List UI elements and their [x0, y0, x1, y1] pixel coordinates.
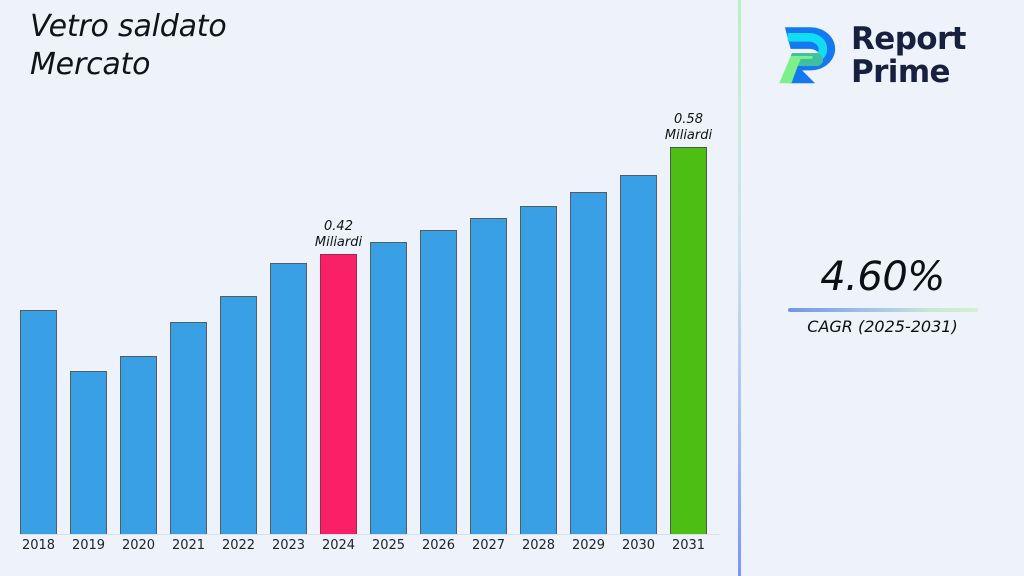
x-tick-2028: 2028 [514, 538, 564, 553]
report-prime-logo-icon [769, 23, 841, 89]
cagr-value: 4.60% [741, 252, 1024, 302]
bar-value-label-2031: 0.58 Miliardi [629, 112, 749, 144]
bar-2030[interactable] [620, 175, 657, 534]
cagr-divider-rule [788, 308, 978, 312]
chart-title: Vetro saldato Mercato [30, 8, 590, 84]
x-tick-2024: 2024 [314, 538, 364, 553]
x-axis-tick-labels: 2018201920202021202220232024202520262027… [0, 538, 738, 574]
x-tick-2029: 2029 [564, 538, 614, 553]
cagr-caption: CAGR (2025-2031) [741, 316, 1024, 338]
cagr-block: 4.60% CAGR (2025-2031) [741, 252, 1024, 338]
chart-baseline [20, 534, 720, 535]
x-tick-2031: 2031 [664, 538, 714, 553]
bar-2025[interactable] [370, 242, 407, 534]
x-tick-2023: 2023 [264, 538, 314, 553]
bar-2022[interactable] [220, 296, 257, 534]
bar-2026[interactable] [420, 230, 457, 534]
x-tick-2026: 2026 [414, 538, 464, 553]
x-tick-2030: 2030 [614, 538, 664, 553]
brand-panel: Report Prime 4.60% CAGR (2025-2031) [741, 0, 1024, 576]
bar-2024[interactable] [320, 254, 357, 534]
bar-2029[interactable] [570, 192, 607, 534]
bar-2031[interactable] [670, 147, 707, 534]
bar-2028[interactable] [520, 206, 557, 534]
x-tick-2020: 2020 [114, 538, 164, 553]
x-tick-2018: 2018 [14, 538, 64, 553]
x-tick-2025: 2025 [364, 538, 414, 553]
brand-logo: Report Prime [769, 14, 1019, 98]
bar-2019[interactable] [70, 371, 107, 534]
x-tick-2022: 2022 [214, 538, 264, 553]
bar-2018[interactable] [20, 310, 57, 534]
bar-chart-plot-area: 0.42 Miliardi0.58 Miliardi [0, 120, 738, 535]
bar-2021[interactable] [170, 322, 207, 534]
bar-2020[interactable] [120, 356, 157, 534]
x-tick-2021: 2021 [164, 538, 214, 553]
x-tick-2027: 2027 [464, 538, 514, 553]
bar-2023[interactable] [270, 263, 307, 534]
brand-wordmark: Report Prime [851, 23, 966, 89]
x-tick-2019: 2019 [64, 538, 114, 553]
bar-2027[interactable] [470, 218, 507, 534]
infographic-root: Vetro saldato Mercato 0.42 Miliardi0.58 … [0, 0, 1024, 576]
chart-panel: Vetro saldato Mercato 0.42 Miliardi0.58 … [0, 0, 738, 576]
